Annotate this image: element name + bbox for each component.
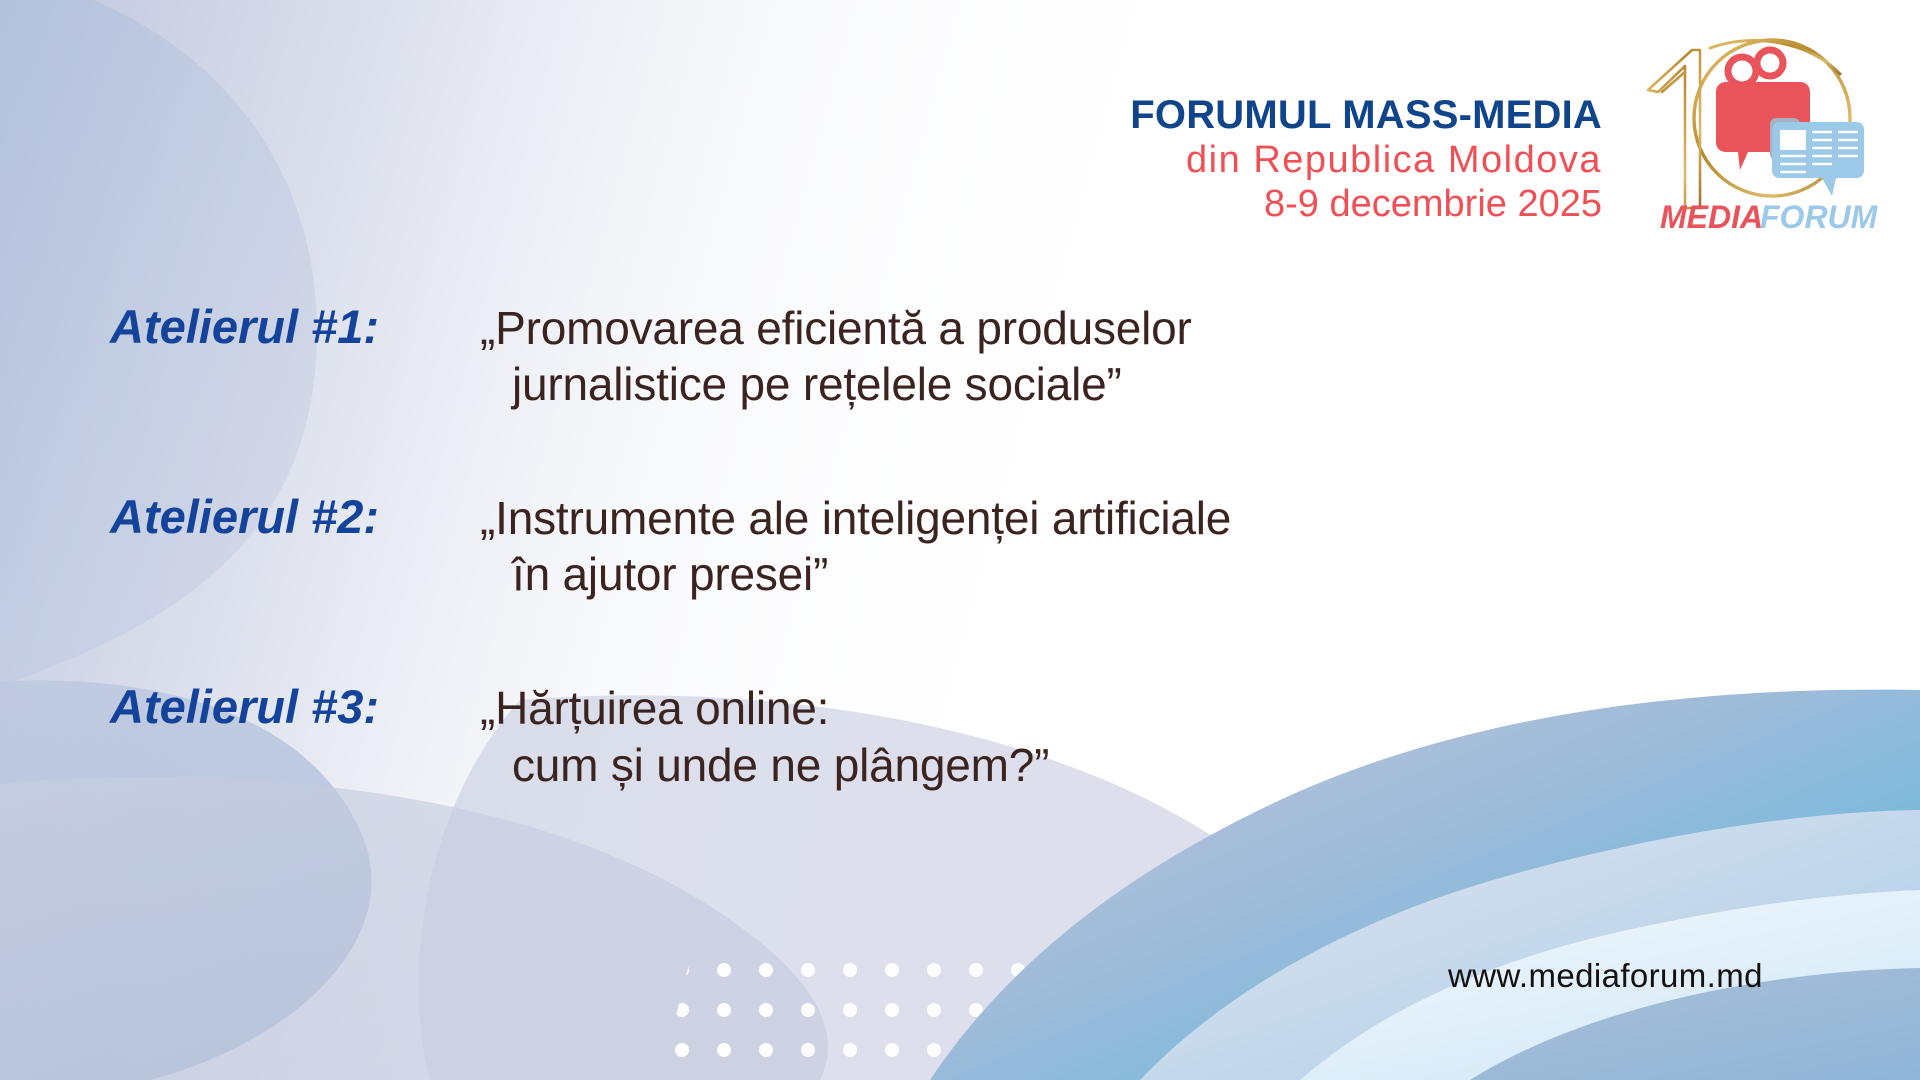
workshop-3-title-line2: cum și unde ne plângem?” bbox=[480, 737, 1049, 793]
workshop-1-title-line1: „Promovarea eficientă a produselor bbox=[480, 302, 1192, 354]
workshop-2-label: Atelierul #2: bbox=[0, 490, 480, 544]
forum-country: din Republica Moldova bbox=[1130, 139, 1602, 182]
logo-wordmark-forum: FORUM bbox=[1760, 199, 1879, 235]
workshop-row: Atelierul #2: „Instrumente ale inteligen… bbox=[0, 490, 1920, 602]
logo-numeral-one bbox=[1648, 50, 1700, 208]
workshop-1-label: Atelierul #1: bbox=[0, 300, 480, 354]
forum-title: FORUMUL MASS-MEDIA bbox=[1130, 94, 1602, 137]
workshop-row: Atelierul #1: „Promovarea eficientă a pr… bbox=[0, 300, 1920, 412]
logo-wordmark-media: MEDIA bbox=[1660, 199, 1763, 235]
forum-dates: 8-9 decembrie 2025 bbox=[1130, 183, 1602, 226]
workshop-3-title: „Hărțuirea online: cum și unde ne plânge… bbox=[480, 680, 1049, 792]
logo-newspaper-icon bbox=[1772, 122, 1864, 196]
workshop-1-title-line2: jurnalistice pe rețelele sociale” bbox=[480, 356, 1192, 412]
workshop-2-title: „Instrumente ale inteligenței artificial… bbox=[480, 490, 1231, 602]
workshop-2-title-line2: în ajutor presei” bbox=[480, 546, 1231, 602]
workshop-2-title-line1: „Instrumente ale inteligenței artificial… bbox=[480, 492, 1231, 544]
website-url: www.mediaforum.md bbox=[1448, 957, 1763, 995]
header-text-group: FORUMUL MASS-MEDIA din Republica Moldova… bbox=[1130, 62, 1602, 225]
workshop-3-label: Atelierul #3: bbox=[0, 680, 480, 734]
workshop-1-title: „Promovarea eficientă a produselor jurna… bbox=[480, 300, 1192, 412]
header-branding: FORUMUL MASS-MEDIA din Republica Moldova… bbox=[1130, 62, 1892, 236]
workshop-list: Atelierul #1: „Promovarea eficientă a pr… bbox=[0, 300, 1920, 871]
workshop-3-title-line1: „Hărțuirea online: bbox=[480, 682, 829, 734]
media-forum-logo: MEDIA FORUM bbox=[1614, 30, 1892, 236]
slide-canvas: FORUMUL MASS-MEDIA din Republica Moldova… bbox=[0, 0, 1920, 1080]
workshop-row: Atelierul #3: „Hărțuirea online: cum și … bbox=[0, 680, 1920, 792]
